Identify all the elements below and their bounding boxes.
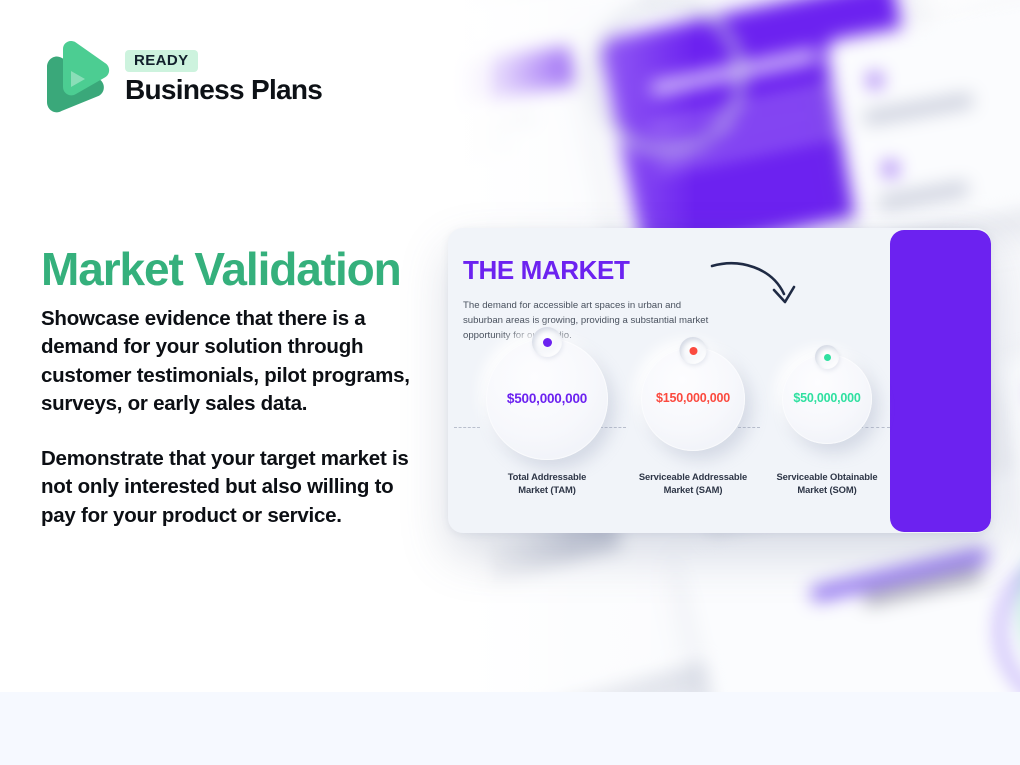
market-label-som-line1: Serviceable Obtainable — [777, 471, 878, 482]
market-label-tam-line1: Total Addressable — [508, 471, 587, 482]
market-label-sam-line2: Market (SAM) — [664, 484, 723, 495]
market-label-som: Serviceable Obtainable Market (SOM) — [742, 470, 912, 497]
market-item-tam: $500,000,000 Total Addressable Market (T… — [462, 338, 632, 458]
brand-text: READY Business Plans — [125, 50, 322, 106]
market-label-tam: Total Addressable Market (TAM) — [462, 470, 632, 497]
bg-ring-top — [576, 0, 759, 168]
market-label-tam-line2: Market (TAM) — [518, 484, 575, 495]
body-paragraph-2: Demonstrate that your target market is n… — [41, 445, 426, 530]
curved-down-arrow-icon — [710, 260, 800, 319]
ready-badge: READY — [125, 50, 198, 72]
play-triangle-logo-icon — [41, 41, 111, 115]
body-paragraph-1: Showcase evidence that there is a demand… — [41, 305, 426, 418]
market-amount-som: $50,000,000 — [742, 391, 912, 405]
market-dot-green-icon — [815, 345, 839, 369]
card-title: THE MARKET — [463, 257, 629, 283]
market-label-sam-line1: Serviceable Addressable — [639, 471, 747, 482]
body-copy: Showcase evidence that there is a demand… — [41, 305, 426, 530]
market-card: THE MARKET The demand for accessible art… — [448, 228, 991, 533]
bg-slide-far-right — [996, 322, 1020, 527]
brand-name: Business Plans — [125, 75, 322, 106]
market-dot-purple-icon — [532, 327, 562, 357]
market-sizes-group: $500,000,000 Total Addressable Market (T… — [448, 338, 890, 498]
page-title: Market Validation — [41, 245, 401, 294]
bg-slide-right-top — [824, 2, 1020, 239]
slide-canvas: READY Business Plans Market Validation S… — [0, 0, 1020, 765]
market-label-som-line2: Market (SOM) — [797, 484, 856, 495]
market-dot-red-icon — [680, 337, 707, 364]
bottom-band — [0, 692, 1020, 765]
brand-logo[interactable]: READY Business Plans — [41, 41, 322, 115]
market-item-som: $50,000,000 Serviceable Obtainable Marke… — [742, 338, 912, 458]
market-amount-tam: $500,000,000 — [462, 391, 632, 406]
